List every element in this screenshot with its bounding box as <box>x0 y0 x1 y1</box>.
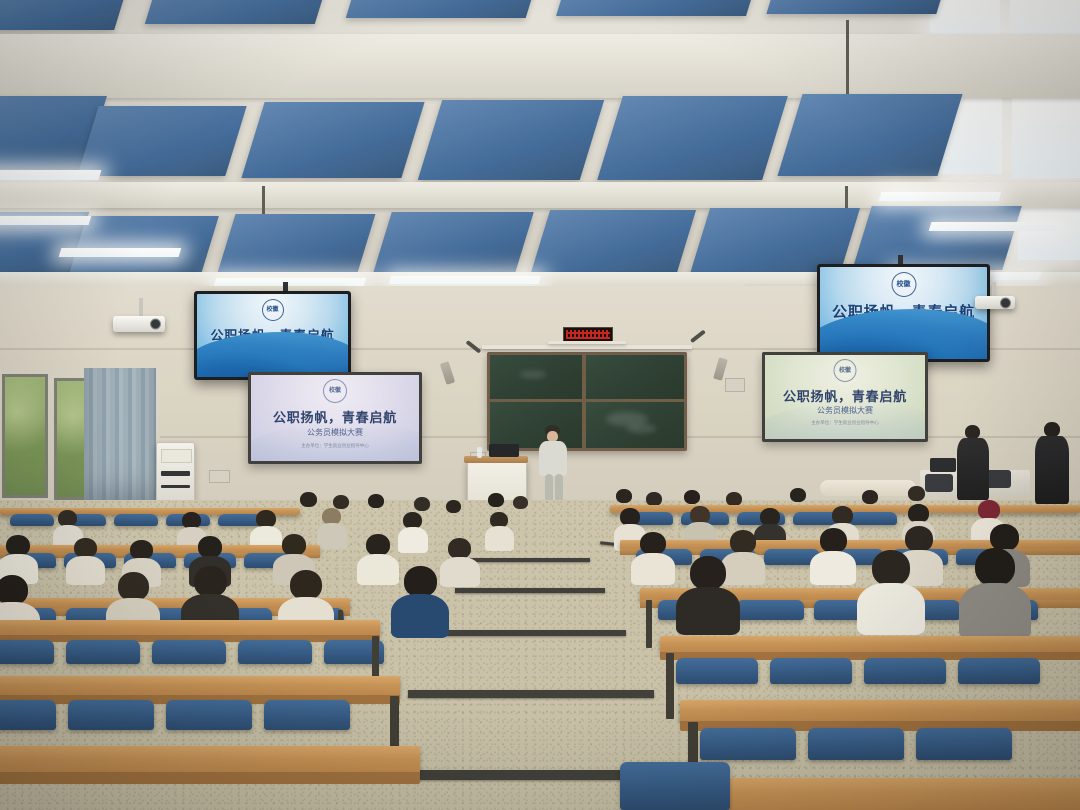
ceiling-acoustic-panel <box>372 212 534 276</box>
banner-subtitle: 公务员模拟大赛 <box>251 427 419 438</box>
blackboard-panel <box>490 355 582 399</box>
hanging-tv-left: 校徽 公职扬帆，青春启航 公务员模拟大赛 主办单位：学生就业创业指导中心 <box>194 291 351 380</box>
student-head <box>690 556 726 590</box>
ceiling-projector-left <box>113 316 165 332</box>
banner-subtitle: 公务员模拟大赛 <box>820 323 987 336</box>
lecture-hall-photo: 校徽 公职扬帆，青春启航 公务员模拟大赛 主办单位：学生就业创业指导中心 校徽 … <box>0 0 1080 810</box>
student-head <box>908 486 925 501</box>
student-head <box>978 500 1000 520</box>
banner-subtitle: 公务员模拟大赛 <box>197 344 348 355</box>
student-body <box>440 557 480 587</box>
presenter-torso <box>539 441 567 476</box>
seat <box>10 514 54 526</box>
student-body <box>485 526 514 551</box>
projector-lens-icon <box>1000 297 1011 308</box>
equipment-case <box>925 474 953 492</box>
student-body <box>810 551 856 585</box>
student-head <box>6 535 30 556</box>
seat <box>114 514 158 526</box>
seat <box>152 640 226 664</box>
projection-screen-left: 校徽 公职扬帆，青春启航 公务员模拟大赛 主办单位：学生就业创业指导中心 <box>248 372 422 464</box>
projection-screen-right: 校徽 公职扬帆，青春启航 公务员模拟大赛 主办单位：学生就业创业指导中心 <box>762 352 928 442</box>
chalk-mark <box>626 424 656 433</box>
seat <box>0 700 56 730</box>
banner-main-title: 公职扬帆，青春启航 <box>820 301 987 322</box>
desk-surface <box>700 778 1080 810</box>
wall-switch-panel[interactable] <box>209 470 230 483</box>
ceiling-hanger-rod <box>262 186 265 216</box>
student-head <box>646 492 662 506</box>
student-body <box>66 556 105 585</box>
fluorescent-light-strip <box>389 276 541 284</box>
student-body <box>959 583 1031 639</box>
student-head <box>446 500 461 513</box>
tv-screen-left: 校徽 公职扬帆，青春启航 公务员模拟大赛 主办单位：学生就业创业指导中心 <box>197 294 348 377</box>
emblem-glyph: 校徽 <box>839 368 851 374</box>
ceiling-beam <box>0 34 1080 98</box>
student-head <box>862 490 878 504</box>
student-body <box>357 554 399 585</box>
blackboard <box>487 352 687 451</box>
staff-body <box>1035 436 1069 504</box>
desk-edge <box>0 772 420 784</box>
student-head <box>414 497 430 511</box>
ceiling-acoustic-panel <box>69 216 219 274</box>
tv-screen-right: 校徽 公职扬帆，青春启航 公务员模拟大赛 主办单位：学生就业创业指导中心 <box>820 267 987 359</box>
ceiling-acoustic-panel <box>777 94 962 176</box>
window-pane <box>2 374 48 498</box>
student-head <box>282 534 306 556</box>
student-head <box>448 538 471 559</box>
ceiling <box>0 0 1080 300</box>
projector-pole <box>139 298 143 318</box>
student-body <box>398 527 428 553</box>
ceiling-acoustic-panel <box>145 0 325 24</box>
aisle-step-nosing <box>455 588 605 593</box>
ceiling-acoustic-panel <box>217 214 376 276</box>
air-conditioner <box>156 442 195 506</box>
water-bottle <box>477 447 482 458</box>
seat <box>958 658 1040 684</box>
seat <box>264 700 350 730</box>
student-head <box>0 575 28 605</box>
sign-shelf <box>548 341 626 344</box>
student-body <box>857 583 925 635</box>
student-body <box>391 594 449 638</box>
student-head <box>130 540 153 560</box>
seat <box>676 658 758 684</box>
student-head <box>726 492 742 506</box>
student-head <box>730 530 756 554</box>
banner-organizer: 主办单位：学生就业创业指导中心 <box>197 358 348 364</box>
student-head <box>290 570 322 600</box>
desk-leg <box>666 653 674 719</box>
fluorescent-light-strip <box>929 222 1062 231</box>
student-head <box>990 524 1019 551</box>
emblem-glyph: 校徽 <box>266 307 278 313</box>
wall-panel <box>725 378 745 392</box>
student-head <box>74 538 97 558</box>
clerestory-window <box>1012 98 1080 178</box>
seat <box>68 700 154 730</box>
school-emblem-icon: 校徽 <box>323 379 347 403</box>
ac-vent <box>161 449 191 463</box>
banner-main-title: 公职扬帆，青春启航 <box>765 386 925 405</box>
blackboard-light <box>482 345 692 349</box>
ceiling-acoustic-panel <box>0 0 126 30</box>
student-head <box>790 488 806 502</box>
student-head <box>640 532 666 555</box>
seat <box>238 640 312 664</box>
ceiling-projector-right <box>975 296 1015 309</box>
ac-slot <box>161 485 191 488</box>
fluorescent-light-strip <box>879 192 1002 201</box>
seat <box>0 640 54 664</box>
student-head <box>684 490 700 504</box>
student-body <box>631 553 675 585</box>
ceiling-acoustic-panel <box>530 210 696 276</box>
student-head <box>975 548 1015 586</box>
blackboard-panel <box>586 402 684 448</box>
student-body <box>676 587 740 635</box>
desk-surface <box>0 620 380 636</box>
banner-subtitle: 公务员模拟大赛 <box>765 405 925 416</box>
student-head <box>300 492 317 507</box>
emblem-glyph: 校徽 <box>329 388 341 394</box>
led-dot-matrix <box>566 330 610 339</box>
ceiling-acoustic-panel <box>241 102 424 178</box>
banner-organizer: 主办单位：学生就业创业指导中心 <box>251 443 419 449</box>
ceiling-acoustic-panel <box>852 206 1022 270</box>
seat <box>864 658 946 684</box>
curtain <box>84 368 156 508</box>
student-head <box>488 493 504 507</box>
projection-image-left: 校徽 公职扬帆，青春启航 公务员模拟大赛 主办单位：学生就业创业指导中心 <box>251 375 419 461</box>
ceiling-acoustic-panel <box>556 0 754 16</box>
desk-surface <box>680 700 1080 722</box>
aisle-step-nosing <box>408 690 654 698</box>
blackboard-panel <box>490 402 582 448</box>
projection-image-right: 校徽 公职扬帆，青春启航 公务员模拟大赛 主办单位：学生就业创业指导中心 <box>765 355 925 439</box>
emblem-glyph: 校徽 <box>897 281 911 288</box>
ceiling-acoustic-panel <box>597 96 788 180</box>
seat <box>700 728 796 760</box>
fluorescent-light-strip <box>214 278 366 286</box>
student-head <box>404 566 437 597</box>
ceiling-acoustic-panel <box>766 0 943 14</box>
ceiling-acoustic-panel <box>346 0 535 18</box>
chalk-mark <box>520 371 546 378</box>
student-head <box>366 534 390 556</box>
seat <box>770 658 852 684</box>
student-head <box>820 528 847 553</box>
aisle-step-nosing <box>470 558 590 562</box>
desk-surface <box>660 636 1080 653</box>
staff-head <box>965 425 980 439</box>
seat <box>808 728 904 760</box>
ac-slot <box>161 471 191 476</box>
student-head <box>872 550 910 586</box>
school-emblem-icon: 校徽 <box>262 299 284 321</box>
lectern-monitor <box>489 444 519 457</box>
seat <box>166 700 252 730</box>
school-emblem-icon: 校徽 <box>891 272 916 297</box>
banner-organizer: 主办单位：学生就业创业指导中心 <box>820 339 987 346</box>
student-body <box>317 523 347 549</box>
student-head <box>333 495 349 509</box>
ceiling-hanger-rod <box>846 20 849 100</box>
student-head <box>118 572 149 601</box>
student-head <box>194 566 227 597</box>
student-head <box>198 536 222 558</box>
fluorescent-light-strip <box>0 170 102 180</box>
ceiling-acoustic-panel <box>418 100 604 180</box>
seat <box>620 762 730 810</box>
banner-organizer: 主办单位：学生就业创业指导中心 <box>765 420 925 426</box>
banner-main-title: 公职扬帆，青春启航 <box>251 407 419 426</box>
blackboard-panel <box>586 355 684 399</box>
desk-surface <box>0 676 400 696</box>
hanging-tv-right: 校徽 公职扬帆，青春启航 公务员模拟大赛 主办单位：学生就业创业指导中心 <box>817 264 990 362</box>
staff-body <box>957 438 989 500</box>
seat <box>736 600 804 620</box>
student-head <box>616 489 632 503</box>
led-scrolling-sign <box>563 327 613 342</box>
fluorescent-light-strip <box>59 248 182 257</box>
student-body <box>721 552 765 585</box>
seat <box>66 640 140 664</box>
student-head <box>905 526 933 552</box>
banner-main-title: 公职扬帆，青春启航 <box>197 325 348 344</box>
staff-head <box>1044 422 1060 437</box>
projector-lens-icon <box>150 319 161 330</box>
lectern-top <box>464 456 528 463</box>
fluorescent-light-strip <box>0 216 91 225</box>
seat <box>849 512 897 525</box>
desk-surface <box>0 746 420 774</box>
seat <box>916 728 1012 760</box>
school-emblem-icon: 校徽 <box>834 359 857 382</box>
ceiling-acoustic-panel <box>77 106 246 176</box>
desk-leg <box>646 600 652 648</box>
laptop <box>930 458 956 472</box>
aisle-step-nosing <box>434 630 626 636</box>
student-head <box>368 494 384 508</box>
student-head <box>513 496 528 509</box>
